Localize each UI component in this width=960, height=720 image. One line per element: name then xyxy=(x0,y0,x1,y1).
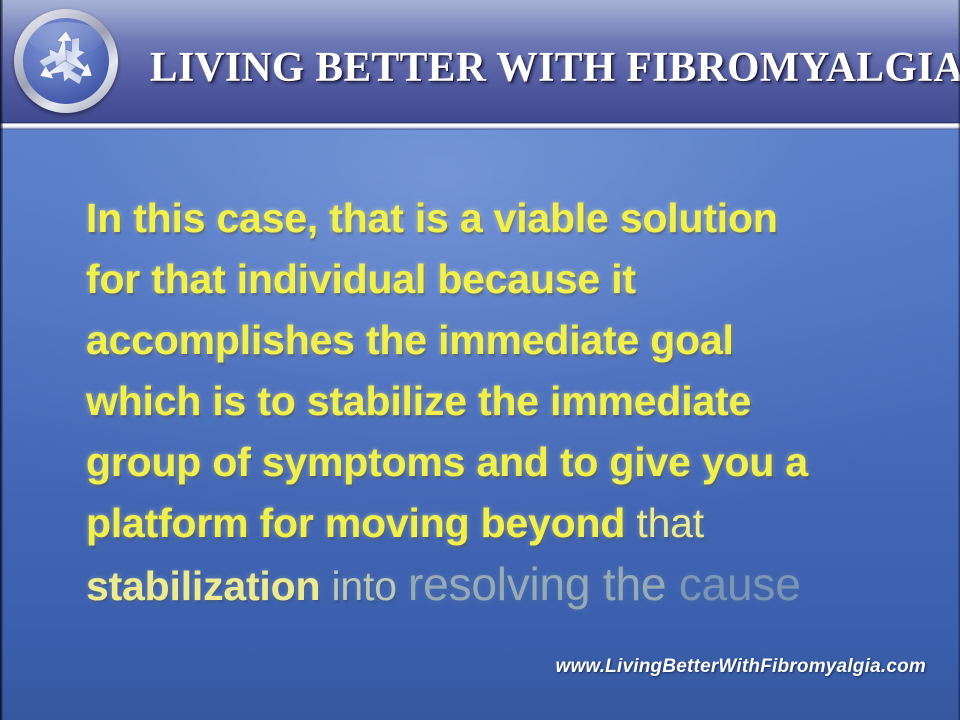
caption-word-group: into xyxy=(332,563,409,609)
caption-line: for that individual because it xyxy=(86,249,926,310)
caption-word-group: cause xyxy=(679,558,801,610)
video-frame: LIVING BETTER WITH FIBROMYALGIA In this … xyxy=(0,0,960,720)
caption-word-group: resolving xyxy=(408,558,603,610)
page-title: LIVING BETTER WITH FIBROMYALGIA xyxy=(150,44,948,92)
caption-word-group: group of symptoms and to give you a xyxy=(86,439,808,485)
caption-line: accomplishes the immediate goal xyxy=(86,310,926,371)
caption-word-group: accomplishes the immediate goal xyxy=(86,317,734,363)
caption-word-group: In this case, that is a viable solution xyxy=(86,195,778,241)
caption-word-group: for that individual because it xyxy=(86,256,636,302)
caption-word-group: platform for moving xyxy=(86,500,481,546)
caption-word-group: that xyxy=(636,500,704,546)
caption-line: group of symptoms and to give you a xyxy=(86,432,926,493)
caption-line: platform for moving beyond that xyxy=(86,493,926,554)
frame-edge-left xyxy=(0,0,3,720)
header-divider xyxy=(0,122,960,130)
header-sheen xyxy=(0,0,960,40)
recycle-arrows-icon xyxy=(23,18,109,104)
site-url-watermark: www.LivingBetterWithFibromyalgia.com xyxy=(555,656,926,678)
caption-word-group: beyond xyxy=(481,500,637,546)
caption-word-group: which is to stabilize the immediate xyxy=(86,378,751,424)
caption-word-group: stabilization xyxy=(86,563,332,609)
caption-block: In this case, that is a viable solution … xyxy=(86,188,926,617)
slide-stage: In this case, that is a viable solution … xyxy=(0,130,960,720)
header-bar: LIVING BETTER WITH FIBROMYALGIA xyxy=(0,0,960,122)
caption-line: which is to stabilize the immediate xyxy=(86,371,926,432)
caption-line: In this case, that is a viable solution xyxy=(86,188,926,249)
caption-word-group: the xyxy=(603,558,679,610)
brand-logo xyxy=(14,9,118,113)
caption-line: stabilization into resolving the cause xyxy=(86,554,926,617)
